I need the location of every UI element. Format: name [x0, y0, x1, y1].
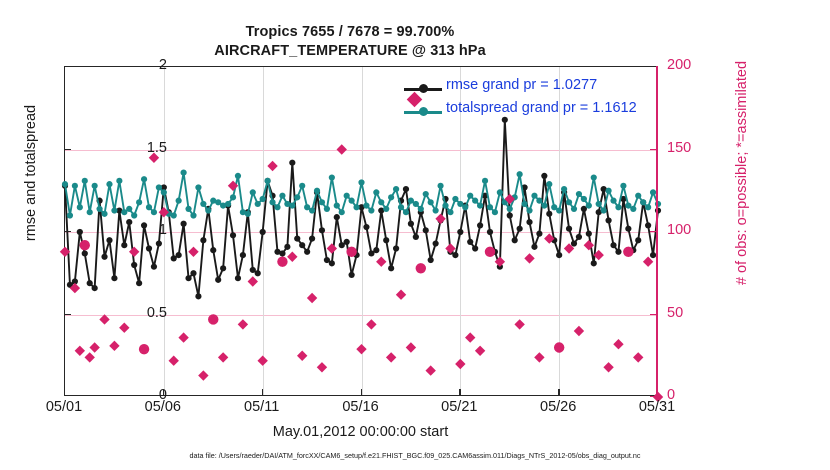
- data-point-totalspread: [452, 196, 458, 202]
- data-point-rmse: [136, 280, 142, 286]
- obs-marker-assimilated: [327, 243, 337, 253]
- data-point-totalspread: [571, 206, 577, 212]
- data-file-caption: data file: /Users/raeder/DAI/ATM_forcXX/…: [0, 451, 830, 460]
- data-point-totalspread: [605, 188, 611, 194]
- data-point-rmse: [176, 252, 182, 258]
- data-point-totalspread: [413, 201, 419, 207]
- data-point-rmse: [526, 219, 532, 225]
- data-point-rmse: [235, 275, 241, 281]
- obs-marker-assimilated: [119, 323, 129, 333]
- y-tick-label-left: 0.5: [107, 305, 167, 321]
- x-tick-label: 05/06: [145, 399, 181, 415]
- data-point-totalspread: [517, 171, 523, 177]
- data-point-rmse: [185, 275, 191, 281]
- data-point-rmse: [591, 260, 597, 266]
- legend-marker-icon: [419, 84, 428, 93]
- obs-marker-assimilated: [445, 243, 455, 253]
- data-point-totalspread: [428, 199, 434, 205]
- data-point-rmse: [541, 173, 547, 179]
- x-tick-mark: [361, 389, 362, 396]
- y-tick-label-right: 150: [667, 140, 727, 156]
- y-tick-mark-right: [650, 231, 657, 232]
- y-axis-label-left: rmse and totalspread: [23, 23, 39, 323]
- data-point-rmse: [556, 252, 562, 258]
- data-point-rmse: [487, 229, 493, 235]
- obs-marker-assimilated: [455, 359, 465, 369]
- x-tick-label: 05/16: [342, 399, 378, 415]
- data-point-totalspread: [82, 178, 88, 184]
- data-point-totalspread: [250, 189, 256, 195]
- y-tick-label-right: 0: [667, 387, 727, 403]
- data-point-totalspread: [531, 193, 537, 199]
- obs-marker-assimilated: [238, 319, 248, 329]
- data-point-totalspread: [319, 199, 325, 205]
- chart-legend: rmse grand pr = 1.0277totalspread grand …: [404, 78, 654, 124]
- data-point-rmse: [610, 242, 616, 248]
- obs-marker-assimilated: [574, 326, 584, 336]
- data-point-rmse: [349, 272, 355, 278]
- data-point-totalspread: [433, 207, 439, 213]
- data-point-totalspread: [581, 196, 587, 202]
- data-point-totalspread: [195, 184, 201, 190]
- data-point-rmse: [344, 239, 350, 245]
- data-point-totalspread: [111, 207, 117, 213]
- obs-marker-assimilated: [257, 356, 267, 366]
- data-point-totalspread: [176, 198, 182, 204]
- data-point-totalspread: [294, 194, 300, 200]
- data-point-rmse: [210, 247, 216, 253]
- data-point-rmse: [472, 245, 478, 251]
- y-axis-label-right: # of obs: o=possible; *=assimilated: [734, 8, 750, 338]
- data-point-rmse: [457, 229, 463, 235]
- chart-title-line1: Tropics 7655 / 7678 = 99.700%: [0, 24, 700, 40]
- data-point-totalspread: [507, 206, 513, 212]
- y-tick-label-left: 1.5: [107, 140, 167, 156]
- data-point-totalspread: [141, 176, 147, 182]
- x-tick-label: 05/21: [441, 399, 477, 415]
- data-point-rmse: [413, 234, 419, 240]
- data-point-rmse: [536, 231, 542, 237]
- data-point-totalspread: [591, 174, 597, 180]
- data-point-rmse: [230, 232, 236, 238]
- data-point-rmse: [77, 229, 83, 235]
- data-point-totalspread: [447, 209, 453, 215]
- data-point-totalspread: [640, 199, 646, 205]
- data-point-totalspread: [67, 212, 73, 218]
- obs-marker-assimilated: [218, 352, 228, 362]
- data-point-rmse: [507, 212, 513, 218]
- obs-marker-assimilated: [475, 346, 485, 356]
- data-point-rmse: [576, 234, 582, 240]
- data-point-totalspread: [556, 207, 562, 213]
- x-axis-label: May.01,2012 00:00:00 start: [64, 424, 657, 440]
- y-tick-mark-left: [64, 149, 71, 150]
- x-tick-label: 05/31: [639, 399, 675, 415]
- data-point-totalspread: [521, 201, 527, 207]
- data-point-totalspread: [92, 183, 98, 189]
- data-point-totalspread: [289, 203, 295, 209]
- data-point-totalspread: [393, 186, 399, 192]
- obs-marker-assimilated: [643, 257, 653, 267]
- x-tick-mark: [558, 389, 559, 396]
- data-point-totalspread: [136, 199, 142, 205]
- data-point-totalspread: [620, 183, 626, 189]
- data-point-rmse: [383, 237, 389, 243]
- data-point-totalspread: [353, 204, 359, 210]
- data-point-rmse: [106, 237, 112, 243]
- data-point-rmse: [477, 222, 483, 228]
- data-point-totalspread: [171, 212, 177, 218]
- data-point-totalspread: [566, 199, 572, 205]
- obs-marker-assimilated: [366, 319, 376, 329]
- data-point-totalspread: [205, 207, 211, 213]
- data-point-totalspread: [324, 206, 330, 212]
- data-point-totalspread: [363, 203, 369, 209]
- data-point-rmse: [512, 237, 518, 243]
- data-point-totalspread: [299, 183, 305, 189]
- obs-marker-assimilated: [129, 247, 139, 257]
- data-point-totalspread: [388, 194, 394, 200]
- data-point-totalspread: [373, 189, 379, 195]
- data-point-totalspread: [472, 198, 478, 204]
- data-point-rmse: [156, 240, 162, 246]
- x-tick-label: 05/11: [244, 399, 279, 415]
- data-point-rmse: [190, 270, 196, 276]
- data-point-rmse: [319, 227, 325, 233]
- data-point-totalspread: [487, 204, 493, 210]
- obs-marker-assimilated: [109, 341, 119, 351]
- y-tick-label-right: 50: [667, 305, 727, 321]
- data-point-rmse: [279, 250, 285, 256]
- data-point-rmse: [531, 244, 537, 250]
- data-point-totalspread: [126, 206, 132, 212]
- data-point-totalspread: [274, 204, 280, 210]
- data-point-totalspread: [200, 201, 206, 207]
- data-point-totalspread: [645, 204, 651, 210]
- data-point-rmse: [181, 221, 187, 227]
- data-point-totalspread: [279, 193, 285, 199]
- data-point-rmse: [146, 245, 152, 251]
- obs-marker-assimilated: [169, 356, 179, 366]
- y-tick-label-left: 1: [107, 222, 167, 238]
- obs-marker-assimilated: [465, 332, 475, 342]
- data-point-rmse: [82, 250, 88, 256]
- y-tick-label-right: 200: [667, 57, 727, 73]
- data-point-totalspread: [546, 181, 552, 187]
- y-tick-mark-left: [64, 231, 71, 232]
- data-point-totalspread: [497, 189, 503, 195]
- data-point-rmse: [363, 224, 369, 230]
- data-point-totalspread: [269, 199, 275, 205]
- data-point-totalspread: [77, 204, 83, 210]
- data-point-totalspread: [467, 193, 473, 199]
- data-point-totalspread: [586, 203, 592, 209]
- data-point-rmse: [87, 280, 93, 286]
- data-point-totalspread: [245, 211, 251, 217]
- obs-marker-assimilated: [188, 247, 198, 257]
- data-point-totalspread: [190, 212, 196, 218]
- chart-root: Tropics 7655 / 7678 = 99.700% AIRCRAFT_T…: [0, 0, 830, 470]
- data-point-rmse: [393, 245, 399, 251]
- data-point-rmse: [121, 242, 127, 248]
- data-point-rmse: [299, 242, 305, 248]
- data-point-totalspread: [235, 173, 241, 179]
- obs-marker-assimilated: [534, 352, 544, 362]
- data-point-rmse: [517, 226, 523, 232]
- data-point-rmse: [645, 222, 651, 228]
- data-point-totalspread: [255, 201, 261, 207]
- y-tick-mark-left: [64, 314, 71, 315]
- data-point-rmse: [309, 236, 315, 242]
- obs-marker-assimilated: [396, 290, 406, 300]
- data-point-totalspread: [596, 201, 602, 207]
- data-point-totalspread: [403, 209, 409, 215]
- data-point-totalspread: [146, 204, 152, 210]
- data-point-rmse: [334, 214, 340, 220]
- data-point-totalspread: [368, 207, 374, 213]
- data-point-totalspread: [116, 178, 122, 184]
- obs-marker-assimilated: [317, 362, 327, 372]
- data-point-totalspread: [131, 212, 137, 218]
- data-point-totalspread: [344, 193, 350, 199]
- data-point-totalspread: [383, 206, 389, 212]
- data-point-totalspread: [437, 183, 443, 189]
- data-point-rmse: [260, 229, 266, 235]
- data-point-totalspread: [541, 203, 547, 209]
- data-point-totalspread: [309, 207, 315, 213]
- data-point-rmse: [635, 237, 641, 243]
- data-point-rmse: [467, 239, 473, 245]
- x-tick-mark: [163, 389, 164, 396]
- obs-marker-assimilated: [425, 365, 435, 375]
- legend-item: rmse grand pr = 1.0277: [404, 78, 654, 101]
- data-point-totalspread: [329, 174, 335, 180]
- data-point-totalspread: [72, 183, 78, 189]
- data-point-totalspread: [398, 204, 404, 210]
- y-tick-label-left: 2: [107, 57, 167, 73]
- data-point-rmse: [195, 293, 201, 299]
- data-point-totalspread: [423, 191, 429, 197]
- data-point-totalspread: [601, 207, 607, 213]
- data-point-rmse: [215, 277, 221, 283]
- data-point-rmse: [294, 236, 300, 242]
- data-point-totalspread: [482, 178, 488, 184]
- obs-marker-assimilated: [307, 293, 317, 303]
- legend-item: totalspread grand pr = 1.1612: [404, 101, 654, 124]
- data-point-rmse: [615, 249, 621, 255]
- data-point-rmse: [200, 237, 206, 243]
- data-point-totalspread: [536, 198, 542, 204]
- data-point-totalspread: [260, 196, 266, 202]
- data-point-totalspread: [87, 209, 93, 215]
- data-point-totalspread: [418, 206, 424, 212]
- obs-marker-assimilated: [514, 319, 524, 329]
- x-tick-label: 05/26: [540, 399, 576, 415]
- obs-marker-assimilated: [603, 362, 613, 372]
- data-point-rmse: [373, 247, 379, 253]
- legend-label: totalspread grand pr = 1.1612: [446, 100, 637, 116]
- data-point-totalspread: [358, 179, 364, 185]
- legend-label: rmse grand pr = 1.0277: [446, 77, 597, 93]
- data-point-rmse: [255, 270, 261, 276]
- obs-marker-assimilated: [386, 352, 396, 362]
- x-tick-mark: [262, 389, 263, 396]
- chart-title-line2: AIRCRAFT_TEMPERATURE @ 313 hPa: [0, 43, 700, 59]
- legend-marker-icon: [419, 107, 428, 116]
- data-point-rmse: [452, 252, 458, 258]
- obs-marker-assimilated: [376, 257, 386, 267]
- obs-marker-assimilated: [85, 352, 95, 362]
- y-tick-mark-right: [650, 314, 657, 315]
- data-point-totalspread: [378, 199, 384, 205]
- data-point-rmse: [131, 262, 137, 268]
- obs-marker-assimilated: [613, 339, 623, 349]
- data-point-totalspread: [526, 207, 532, 213]
- obs-marker-assimilated: [337, 144, 347, 154]
- obs-marker-assimilated: [297, 351, 307, 361]
- obs-marker-assimilated: [356, 344, 366, 354]
- data-point-rmse: [586, 231, 592, 237]
- data-point-totalspread: [561, 186, 567, 192]
- data-point-rmse: [289, 160, 295, 166]
- data-point-totalspread: [615, 204, 621, 210]
- data-point-rmse: [92, 285, 98, 291]
- data-point-totalspread: [62, 181, 68, 187]
- data-point-totalspread: [576, 191, 582, 197]
- obs-marker-assimilated: [89, 342, 99, 352]
- data-point-totalspread: [610, 198, 616, 204]
- data-point-totalspread: [151, 209, 157, 215]
- obs-marker-assimilated: [584, 240, 594, 250]
- data-point-rmse: [428, 257, 434, 263]
- data-point-totalspread: [185, 206, 191, 212]
- data-point-totalspread: [314, 188, 320, 194]
- data-point-rmse: [111, 275, 117, 281]
- data-point-totalspread: [462, 204, 468, 210]
- data-point-rmse: [284, 244, 290, 250]
- obs-marker-assimilated: [287, 252, 297, 262]
- data-point-rmse: [240, 252, 246, 258]
- obs-marker-assimilated: [633, 352, 643, 362]
- obs-marker-assimilated: [75, 346, 85, 356]
- data-point-totalspread: [492, 209, 498, 215]
- data-point-rmse: [403, 186, 409, 192]
- data-point-rmse: [304, 249, 310, 255]
- data-point-rmse: [605, 217, 611, 223]
- data-point-rmse: [388, 265, 394, 271]
- data-point-totalspread: [161, 189, 167, 195]
- obs-marker-assimilated: [435, 214, 445, 224]
- data-point-totalspread: [96, 206, 102, 212]
- data-point-totalspread: [339, 209, 345, 215]
- x-tick-label: 05/01: [46, 399, 82, 415]
- data-point-totalspread: [106, 181, 112, 187]
- data-point-rmse: [423, 227, 429, 233]
- data-point-rmse: [408, 221, 414, 227]
- data-point-rmse: [220, 265, 226, 271]
- data-point-totalspread: [349, 198, 355, 204]
- y-tick-label-right: 100: [667, 222, 727, 238]
- data-point-totalspread: [156, 184, 162, 190]
- x-tick-mark: [459, 389, 460, 396]
- data-point-rmse: [546, 211, 552, 217]
- data-point-rmse: [329, 260, 335, 266]
- y-tick-mark-right: [650, 149, 657, 150]
- data-point-rmse: [433, 240, 439, 246]
- data-point-totalspread: [265, 178, 271, 184]
- obs-marker-assimilated: [248, 276, 258, 286]
- y-tick-mark-right: [650, 396, 657, 397]
- data-point-totalspread: [181, 170, 187, 176]
- obs-marker-assimilated: [198, 370, 208, 380]
- data-point-rmse: [566, 226, 572, 232]
- data-point-rmse: [625, 226, 631, 232]
- data-point-totalspread: [230, 194, 236, 200]
- data-point-rmse: [151, 264, 157, 270]
- data-point-totalspread: [477, 203, 483, 209]
- obs-marker-assimilated: [267, 161, 277, 171]
- data-point-totalspread: [635, 193, 641, 199]
- data-point-totalspread: [630, 206, 636, 212]
- data-point-totalspread: [101, 211, 107, 217]
- data-point-totalspread: [225, 201, 231, 207]
- obs-marker-assimilated: [178, 332, 188, 342]
- data-point-rmse: [101, 254, 107, 260]
- data-point-rmse: [571, 240, 577, 246]
- obs-marker-assimilated: [524, 253, 534, 263]
- data-point-totalspread: [334, 203, 340, 209]
- data-point-totalspread: [442, 203, 448, 209]
- obs-marker-assimilated: [406, 342, 416, 352]
